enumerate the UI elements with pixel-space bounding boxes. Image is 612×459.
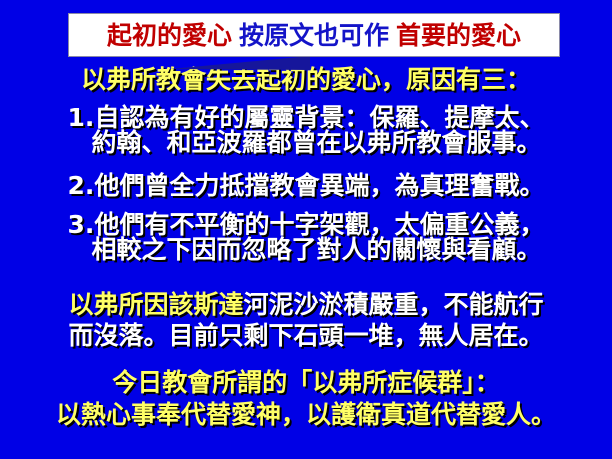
list-item-2-inner: 2.他們曾全力抵擋教會異端，為真理奮戰。 xyxy=(68,173,545,198)
title-callout-box: 起初的愛心按原文也可作首要的愛心 xyxy=(68,13,560,57)
conclusion-block: 今日教會所謂的「以弗所症候群」： 以熱心事奉代替愛神，以護衛真道代替愛人。 xyxy=(0,370,612,427)
paragraph-block: 以弗所因該斯達河泥沙淤積嚴重，不能航行 而沒落。目前只剩下石頭一堆，無人居在。 xyxy=(0,292,612,348)
title-part-1: 起初的愛心 xyxy=(107,21,232,50)
paragraph-line-2: 而沒落。目前只剩下石頭一堆，無人居在。 xyxy=(0,323,612,348)
list-item-2: 2.他們曾全力抵擋教會異端，為真理奮戰。 xyxy=(0,173,612,198)
paragraph-line-1: 以弗所因該斯達河泥沙淤積嚴重，不能航行 xyxy=(0,292,612,317)
callout-tail-icon xyxy=(170,56,310,71)
paragraph-line-1-white: 河泥沙淤積嚴重，不能航行 xyxy=(244,290,544,319)
list-item-3-number: 3. xyxy=(68,210,95,239)
list-item-1: 1.自認為有好的屬靈背景：保羅、提摩太、 約翰、和亞波羅都曾在以弗所教會服事。 xyxy=(0,105,612,155)
title-text: 起初的愛心按原文也可作首要的愛心 xyxy=(107,23,521,48)
conclusion-line-2: 以熱心事奉代替愛神，以護衛真道代替愛人。 xyxy=(0,402,612,427)
title-part-3: 首要的愛心 xyxy=(396,21,521,50)
list-item-3-inner: 3.他們有不平衡的十字架觀，太偏重公義， 相較之下因而忽略了對人的關懷與看顧。 xyxy=(68,212,545,262)
list-item-1-inner: 1.自認為有好的屬靈背景：保羅、提摩太、 約翰、和亞波羅都曾在以弗所教會服事。 xyxy=(68,105,545,155)
list-item-2-number: 2. xyxy=(68,171,95,200)
paragraph-line-1-yellow: 以弗所因該斯達 xyxy=(68,290,243,319)
list-item-1-number: 1. xyxy=(68,103,95,132)
list-item-1-line-1: 1.自認為有好的屬靈背景：保羅、提摩太、 xyxy=(68,105,545,130)
slide-canvas: 起初的愛心按原文也可作首要的愛心 以弗所教會失去起初的愛心，原因有三： 1.自認… xyxy=(0,0,612,459)
list-item-1-line-2: 約翰、和亞波羅都曾在以弗所教會服事。 xyxy=(68,130,545,155)
title-part-2: 按原文也可作 xyxy=(239,21,389,50)
list-item-2-text-1: 他們曾全力抵擋教會異端，為真理奮戰。 xyxy=(94,171,544,200)
list-item-3-line-2: 相較之下因而忽略了對人的關懷與看顧。 xyxy=(68,237,545,262)
list-item-3-line-1: 3.他們有不平衡的十字架觀，太偏重公義， xyxy=(68,212,545,237)
list-item-2-line-1: 2.他們曾全力抵擋教會異端，為真理奮戰。 xyxy=(68,173,545,198)
conclusion-line-1: 今日教會所謂的「以弗所症候群」： xyxy=(0,370,612,395)
list-item-3: 3.他們有不平衡的十字架觀，太偏重公義， 相較之下因而忽略了對人的關懷與看顧。 xyxy=(0,212,612,262)
